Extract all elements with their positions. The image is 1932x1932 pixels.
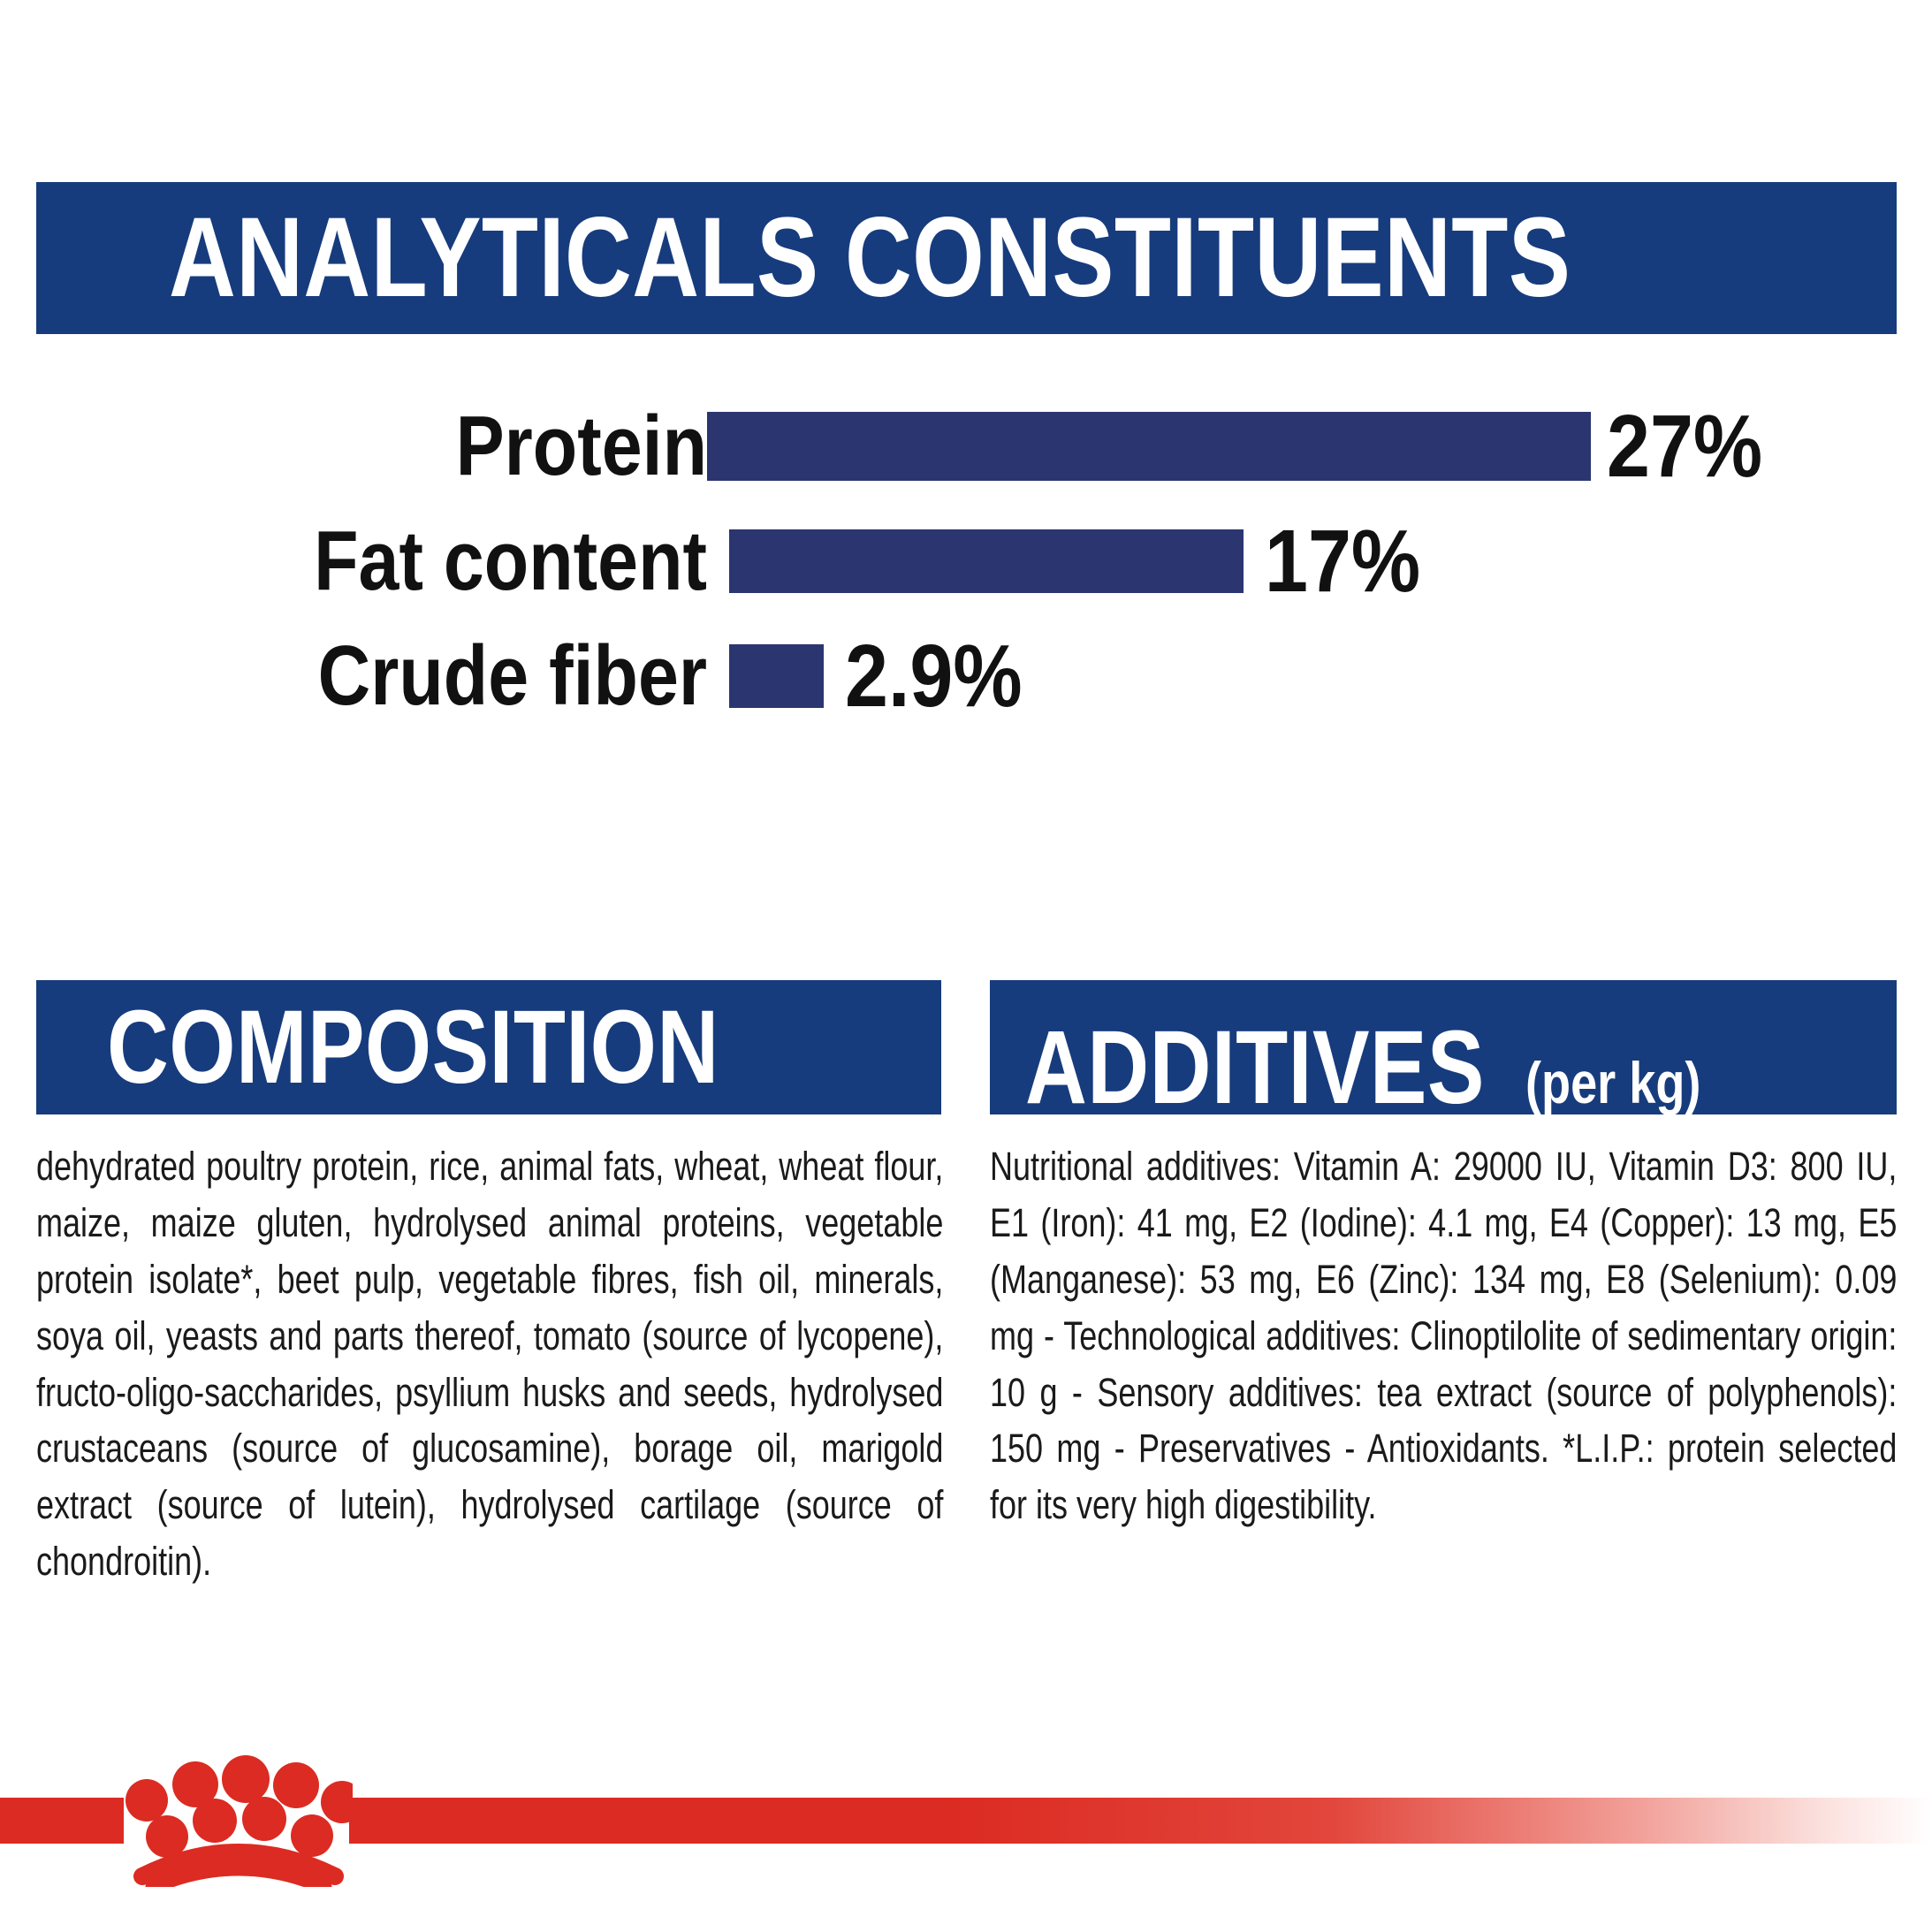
- chart-bar-crude-fiber: [729, 644, 824, 708]
- chart-bar-protein: [707, 412, 1591, 481]
- nutrition-label-page: ANALYTICALS CONSTITUENTS Protein 27% Fat…: [0, 0, 1932, 1932]
- chart-label-protein: Protein: [114, 404, 707, 489]
- composition-banner: COMPOSITION: [36, 980, 941, 1114]
- chart-row: Crude fiber 2.9%: [0, 619, 1932, 734]
- royal-canin-crown-logo: [123, 1746, 353, 1887]
- chart-value-fat-content: 17%: [1265, 517, 1420, 605]
- additives-per-kg-label: (per kg): [1525, 1053, 1700, 1112]
- analyticals-bar-chart: Protein 27% Fat content 17% Crude fiber …: [0, 389, 1932, 742]
- additives-title: ADDITIVES: [1025, 1015, 1485, 1114]
- analyticals-constituents-banner: ANALYTICALS CONSTITUENTS: [36, 182, 1897, 334]
- chart-label-crude-fiber: Crude fiber: [114, 634, 707, 719]
- additives-body-text: Nutritional additives: Vitamin A: 29000 …: [990, 1138, 1897, 1533]
- additives-banner: ADDITIVES (per kg): [990, 980, 1897, 1114]
- chart-row: Fat content 17%: [0, 504, 1932, 619]
- composition-title: COMPOSITION: [107, 995, 719, 1099]
- chart-row: Protein 27%: [0, 389, 1932, 504]
- analyticals-constituents-title: ANALYTICALS CONSTITUENTS: [169, 202, 1571, 315]
- chart-value-crude-fiber: 2.9%: [845, 632, 1023, 720]
- footer-rule-left: [0, 1798, 124, 1844]
- chart-bar-fat-content: [729, 529, 1244, 593]
- composition-body-text: dehydrated poultry protein, rice, animal…: [36, 1138, 943, 1590]
- crown-icon: [123, 1746, 353, 1887]
- chart-label-fat-content: Fat content: [114, 519, 707, 604]
- footer-rule-right: [349, 1798, 1932, 1844]
- chart-value-protein: 27%: [1607, 402, 1762, 491]
